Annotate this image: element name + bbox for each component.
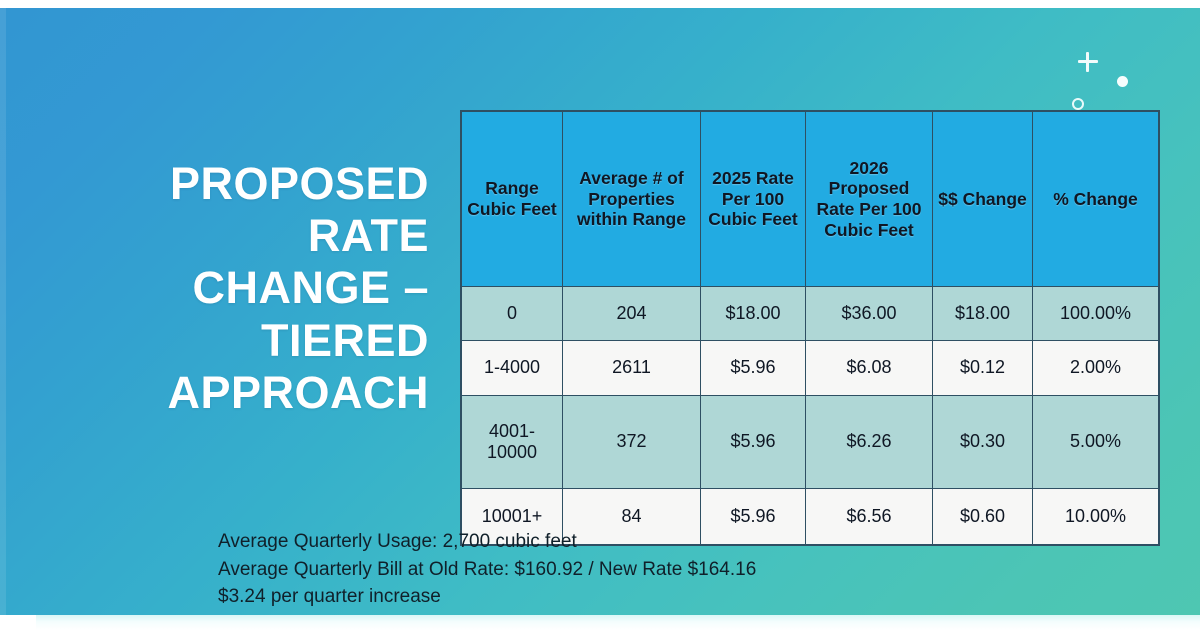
title-line-3: CHANGE –: [24, 262, 429, 314]
footnote-line-1: Average Quarterly Usage: 2,700 cubic fee…: [218, 528, 756, 556]
cell-dollar-change: $18.00: [933, 287, 1033, 341]
cell-range: 0: [462, 287, 563, 341]
cell-percent-change: 5.00%: [1033, 396, 1159, 489]
table-header-row: Range Cubic Feet Average # of Properties…: [462, 112, 1159, 287]
title-line-2: RATE: [24, 210, 429, 262]
page-title: PROPOSED RATE CHANGE – TIERED APPROACH: [24, 158, 429, 419]
cell-rate-2025: $5.96: [701, 341, 806, 396]
cell-rate-2026: $36.00: [806, 287, 933, 341]
cell-dollar-change: $0.12: [933, 341, 1033, 396]
cell-percent-change: 2.00%: [1033, 341, 1159, 396]
cell-range: 1-4000: [462, 341, 563, 396]
table-header: Range Cubic Feet Average # of Properties…: [462, 112, 1159, 287]
ring-icon: [1072, 98, 1084, 110]
cell-rate-2026: $6.56: [806, 489, 933, 545]
table-row: 1-4000 2611 $5.96 $6.08 $0.12 2.00%: [462, 341, 1159, 396]
title-line-5: APPROACH: [24, 367, 429, 419]
bottom-accent-band: [36, 615, 1200, 630]
slide: PROPOSED RATE CHANGE – TIERED APPROACH R…: [0, 0, 1200, 630]
footnote-line-2: Average Quarterly Bill at Old Rate: $160…: [218, 556, 756, 584]
title-line-4: TIERED: [24, 315, 429, 367]
column-header-rate-2026: 2026 Proposed Rate Per 100 Cubic Feet: [806, 112, 933, 287]
left-edge-accent: [0, 8, 6, 630]
table-row: 0 204 $18.00 $36.00 $18.00 100.00%: [462, 287, 1159, 341]
table-row: 4001-10000 372 $5.96 $6.26 $0.30 5.00%: [462, 396, 1159, 489]
rate-change-table: Range Cubic Feet Average # of Properties…: [461, 111, 1159, 545]
cell-dollar-change: $0.30: [933, 396, 1033, 489]
cell-rate-2025: $18.00: [701, 287, 806, 341]
cell-percent-change: 100.00%: [1033, 287, 1159, 341]
footnotes: Average Quarterly Usage: 2,700 cubic fee…: [218, 528, 756, 611]
cell-dollar-change: $0.60: [933, 489, 1033, 545]
cell-rate-2025: $5.96: [701, 396, 806, 489]
title-line-1: PROPOSED: [24, 158, 429, 210]
table-body: 0 204 $18.00 $36.00 $18.00 100.00% 1-400…: [462, 287, 1159, 545]
cell-range: 4001-10000: [462, 396, 563, 489]
cell-rate-2026: $6.26: [806, 396, 933, 489]
cell-properties: 204: [563, 287, 701, 341]
column-header-rate-2025: 2025 Rate Per 100 Cubic Feet: [701, 112, 806, 287]
plus-icon: [1078, 52, 1098, 72]
cell-properties: 2611: [563, 341, 701, 396]
cell-properties: 372: [563, 396, 701, 489]
footnote-line-3: $3.24 per quarter increase: [218, 583, 756, 611]
column-header-dollar-change: $$ Change: [933, 112, 1033, 287]
column-header-percent-change: % Change: [1033, 112, 1159, 287]
cell-rate-2026: $6.08: [806, 341, 933, 396]
column-header-properties: Average # of Properties within Range: [563, 112, 701, 287]
bottom-accent-band-gap: [0, 615, 36, 630]
cell-percent-change: 10.00%: [1033, 489, 1159, 545]
column-header-range: Range Cubic Feet: [462, 112, 563, 287]
dot-icon: [1117, 76, 1128, 87]
